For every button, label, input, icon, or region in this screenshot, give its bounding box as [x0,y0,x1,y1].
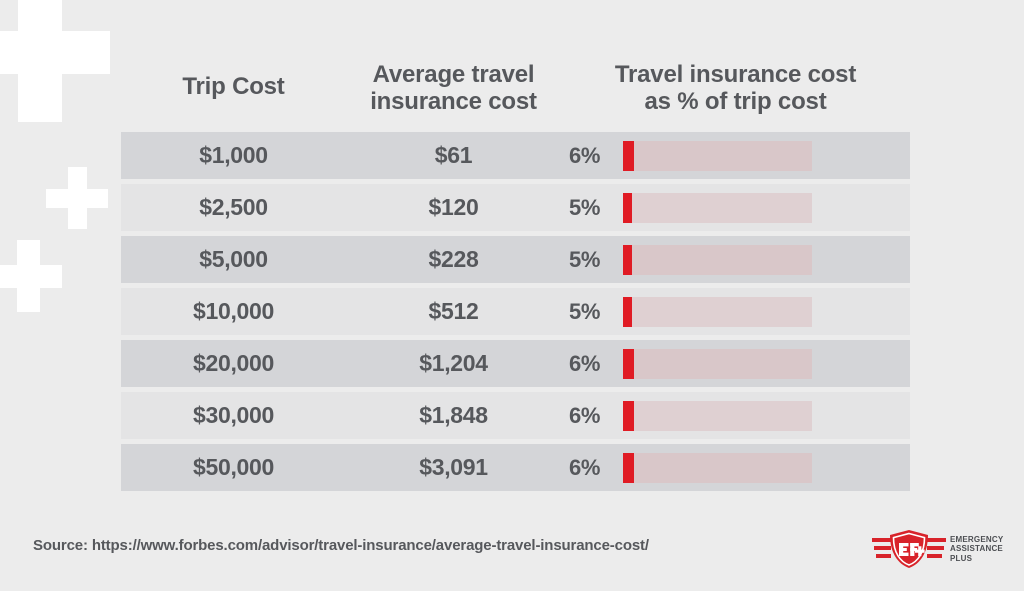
percent-bar-track [623,401,812,431]
percent-bar-track [623,141,812,171]
infographic-canvas: Trip Cost Average travel insurance cost … [0,0,1024,591]
cell-percent-of-trip-cost: 5% [561,245,910,275]
cell-trip-cost: $20,000 [121,350,346,377]
column-header-trip-cost: Trip Cost [121,48,346,101]
cell-percent-of-trip-cost: 5% [561,193,910,223]
percent-label: 5% [569,299,615,325]
decorative-cross-medium-icon [46,167,108,229]
cell-percent-of-trip-cost: 6% [561,401,910,431]
column-header-average-cost-line1: Average travel [346,62,561,89]
percent-bar-fill [623,349,634,379]
cell-trip-cost: $50,000 [121,454,346,481]
table-body: $1,000$616%$2,500$1205%$5,000$2285%$10,0… [121,132,910,491]
percent-label: 5% [569,247,615,273]
percent-label: 6% [569,143,615,169]
cell-trip-cost: $30,000 [121,402,346,429]
cross-horizontal-bar [46,189,108,208]
column-header-trip-cost-label: Trip Cost [182,73,284,100]
brand-logo-line3: PLUS [950,554,1003,563]
percent-bar-fill [623,297,632,327]
cell-average-insurance-cost: $512 [346,298,561,325]
brand-logo-text: EMERGENCY ASSISTANCE PLUS [950,535,1003,563]
percent-bar-track [623,453,812,483]
cell-average-insurance-cost: $1,848 [346,402,561,429]
source-citation: Source: https://www.forbes.com/advisor/t… [33,537,649,554]
percent-label: 6% [569,403,615,429]
column-header-average-cost: Average travel insurance cost [346,48,561,116]
percent-bar-track [623,349,812,379]
cell-trip-cost: $1,000 [121,142,346,169]
table-row: $50,000$3,0916% [121,444,910,491]
percent-bar-track [623,297,812,327]
brand-logo-line1: EMERGENCY [950,535,1003,544]
percent-label: 6% [569,351,615,377]
cost-comparison-table: Trip Cost Average travel insurance cost … [121,48,910,496]
percent-bar-track [623,245,812,275]
table-row: $10,000$5125% [121,288,910,335]
table-row: $30,000$1,8486% [121,392,910,439]
column-header-percent-line1: Travel insurance cost [561,62,910,89]
percent-bar-track [623,193,812,223]
column-header-percent-line2: as % of trip cost [561,89,910,116]
percent-label: 5% [569,195,615,221]
brand-logo-line2: ASSISTANCE [950,544,1003,553]
column-header-average-cost-line2: insurance cost [346,89,561,116]
table-row: $2,500$1205% [121,184,910,231]
table-header-row: Trip Cost Average travel insurance cost … [121,48,910,132]
cell-average-insurance-cost: $228 [346,246,561,273]
cell-trip-cost: $2,500 [121,194,346,221]
cell-average-insurance-cost: $120 [346,194,561,221]
table-row: $5,000$2285% [121,236,910,283]
cell-average-insurance-cost: $61 [346,142,561,169]
cell-trip-cost: $10,000 [121,298,346,325]
cell-average-insurance-cost: $3,091 [346,454,561,481]
cell-trip-cost: $5,000 [121,246,346,273]
brand-logo: EMERGENCY ASSISTANCE PLUS [872,527,1004,571]
percent-bar-fill [623,245,632,275]
percent-bar-fill [623,141,634,171]
cell-percent-of-trip-cost: 6% [561,349,910,379]
cell-percent-of-trip-cost: 5% [561,297,910,327]
decorative-cross-small-icon [0,240,62,312]
cross-horizontal-bar [0,31,110,74]
shield-icon [872,527,946,571]
table-row: $1,000$616% [121,132,910,179]
column-header-percent-of-trip: Travel insurance cost as % of trip cost [561,48,910,116]
percent-bar-fill [623,453,634,483]
cell-average-insurance-cost: $1,204 [346,350,561,377]
percent-label: 6% [569,455,615,481]
decorative-cross-large-icon [0,0,110,122]
percent-bar-fill [623,401,634,431]
cross-horizontal-bar [0,265,62,288]
table-row: $20,000$1,2046% [121,340,910,387]
cell-percent-of-trip-cost: 6% [561,453,910,483]
percent-bar-fill [623,193,632,223]
cell-percent-of-trip-cost: 6% [561,141,910,171]
